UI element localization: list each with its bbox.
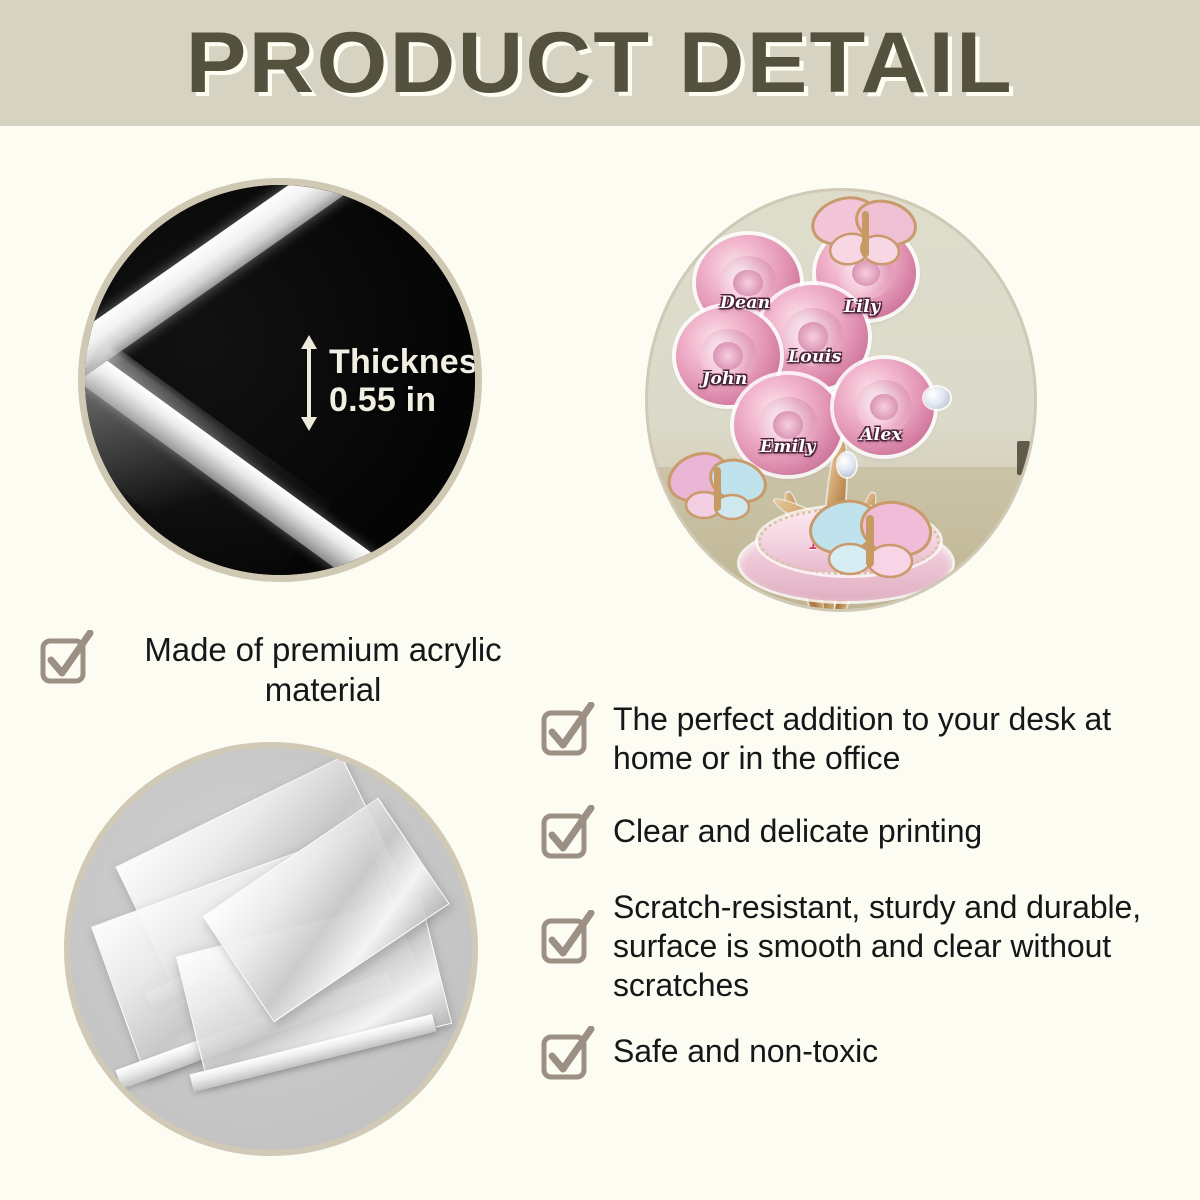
butterfly-left-icon bbox=[666, 447, 770, 532]
thickness-label-line2: 0.55 in bbox=[329, 381, 482, 419]
name-tag-emily: Emily bbox=[760, 437, 816, 457]
acrylic-sheets-photo-circle bbox=[64, 742, 478, 1156]
feature-label-safe-non-toxic: Safe and non-toxic bbox=[613, 1032, 1185, 1071]
acrylic-plaque: Dean Lily Louis John Emily Alex Mom bbox=[648, 191, 1034, 609]
checkbox-icon-premium-acrylic bbox=[38, 630, 94, 686]
checkbox-icon-scratch-resistant bbox=[539, 910, 595, 966]
feature-label-desk-addition: The perfect addition to your desk at hom… bbox=[613, 700, 1185, 778]
thickness-photo-circle: Thickness 0.55 in bbox=[78, 178, 482, 582]
product-detail-infographic: PRODUCT DETAIL Thickness 0.55 in bbox=[0, 0, 1200, 1200]
name-tag-lily: Lily bbox=[844, 297, 880, 317]
feature-label-scratch-resistant: Scratch-resistant, sturdy and durable, s… bbox=[613, 888, 1185, 1005]
butterfly-right-icon bbox=[806, 491, 934, 588]
page-title: PRODUCT DETAIL bbox=[0, 0, 1200, 126]
feature-label-premium-acrylic: Made of premium acrylic material bbox=[108, 630, 538, 711]
thickness-callout: Thickness 0.55 in bbox=[329, 343, 482, 419]
name-tag-louis: Louis bbox=[788, 347, 842, 367]
name-tag-dean: Dean bbox=[720, 293, 771, 313]
product-photo-circle: Dean Lily Louis John Emily Alex Mom bbox=[645, 188, 1037, 612]
thickness-label-line1: Thickness bbox=[329, 343, 482, 381]
gem-accent bbox=[924, 387, 950, 409]
gem-accent bbox=[838, 453, 856, 477]
feature-label-delicate-printing: Clear and delicate printing bbox=[613, 812, 1185, 851]
checkbox-icon-desk-addition bbox=[539, 702, 595, 758]
butterfly-top-icon bbox=[810, 195, 920, 274]
name-tag-alex: Alex bbox=[860, 425, 902, 445]
gem-accent bbox=[670, 224, 701, 260]
thickness-arrow-icon bbox=[297, 335, 321, 431]
checkbox-icon-safe-non-toxic bbox=[539, 1026, 595, 1082]
name-tag-john: John bbox=[702, 369, 748, 389]
checkbox-icon-delicate-printing bbox=[539, 805, 595, 861]
